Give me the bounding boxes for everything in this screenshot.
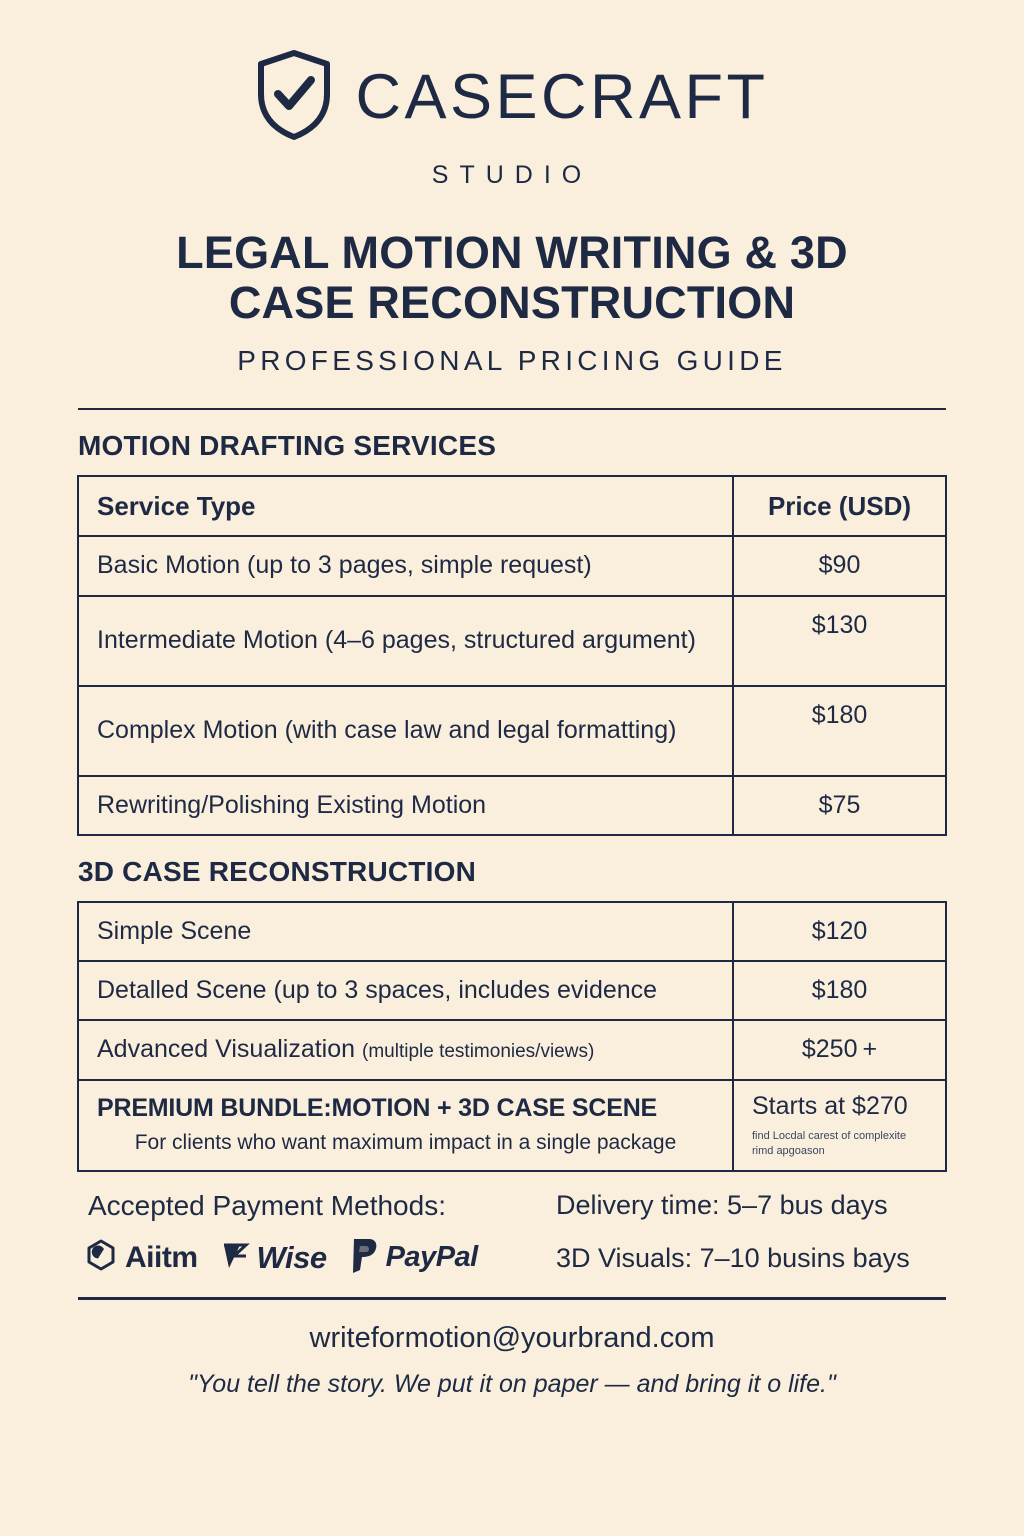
paypal-p-icon	[349, 1236, 379, 1279]
brand-subname: STUDIO	[0, 161, 1024, 190]
payment-method-wise[interactable]: Wise	[220, 1239, 327, 1276]
service-name-note: (multiple testimonies/views)	[362, 1041, 594, 1062]
table-row: Advanced Visualization (multiple testimo…	[78, 1020, 946, 1079]
delivery-3d-visuals: 3D Visuals: 7–10 busins bays	[556, 1245, 946, 1272]
premium-bundle-subtitle: For clients who want maximum impact in a…	[97, 1130, 714, 1156]
service-price: $180	[733, 686, 946, 776]
brand-logo: CASECRAFT	[0, 0, 1024, 147]
table-row: Basic Motion (up to 3 pages, simple requ…	[78, 536, 946, 595]
premium-bundle-price-note-line1: find Locdal carest of complexite	[752, 1129, 927, 1144]
service-name: Advanced Visualization (multiple testimo…	[78, 1020, 733, 1079]
service-name: Complex Motion (with case law and legal …	[78, 686, 733, 776]
premium-bundle-title: PREMIUM BUNDLE:MOTION + 3D CASE SCENE	[97, 1093, 714, 1124]
service-name: Rewriting/Polishing Existing Motion	[78, 776, 733, 835]
service-price: $130	[733, 596, 946, 686]
divider-top	[78, 408, 946, 410]
reconstruction-table: Simple Scene $120 Detalled Scene (up to …	[77, 901, 947, 1173]
payment-methods-label: Accepted Payment Methods:	[88, 1190, 556, 1222]
tagline: "You tell the story. We put it on paper …	[0, 1370, 1024, 1399]
payment-method-paypal[interactable]: PayPal	[349, 1236, 478, 1279]
service-price: $75	[733, 776, 946, 835]
table-row: Detalled Scene (up to 3 spaces, includes…	[78, 961, 946, 1020]
premium-bundle-title-bold: PREMIUM BUNDLE:	[97, 1094, 332, 1122]
page-title-line1: LEGAL MOTION WRITING & 3D	[176, 227, 848, 278]
premium-bundle-row: PREMIUM BUNDLE:MOTION + 3D CASE SCENE Fo…	[78, 1080, 946, 1172]
divider-bottom	[78, 1297, 946, 1300]
service-price: $120	[733, 902, 946, 961]
delivery-time: Delivery time: 5–7 bus days	[556, 1192, 946, 1219]
table-row: Rewriting/Polishing Existing Motion $75	[78, 776, 946, 835]
payment-method-name: Aiitm	[125, 1241, 198, 1275]
payment-method-name: Wise	[257, 1240, 327, 1276]
pricing-flyer: CASECRAFT STUDIO LEGAL MOTION WRITING & …	[0, 0, 1024, 1536]
service-price: $250 +	[733, 1020, 946, 1079]
section-title-3d-reconstruction: 3D CASE RECONSTRUCTION	[78, 856, 1024, 888]
delivery-info: Delivery time: 5–7 bus days 3D Visuals: …	[556, 1190, 946, 1272]
page-subtitle: PROFESSIONAL PRICING GUIDE	[0, 345, 1024, 377]
premium-bundle-cell: PREMIUM BUNDLE:MOTION + 3D CASE SCENE Fo…	[78, 1080, 733, 1172]
service-name: Detalled Scene (up to 3 spaces, includes…	[78, 961, 733, 1020]
premium-bundle-price-cell: Starts at $270 find Locdal carest of com…	[733, 1080, 946, 1172]
column-header-service: Service Type	[78, 476, 733, 537]
table-row: Complex Motion (with case law and legal …	[78, 686, 946, 776]
payment-method-name: PayPal	[386, 1241, 478, 1274]
table-header-row: Service Type Price (USD)	[78, 476, 946, 537]
payments-delivery-block: Accepted Payment Methods: Aiitm	[78, 1190, 946, 1279]
service-name: Basic Motion (up to 3 pages, simple requ…	[78, 536, 733, 595]
premium-bundle-price-note-line2: rimd apgoason	[752, 1144, 927, 1159]
payment-method-airtm[interactable]: Aiitm	[84, 1238, 198, 1277]
airtm-hexagon-icon	[84, 1238, 118, 1277]
premium-bundle-price: Starts at $270	[752, 1091, 927, 1122]
payment-methods: Accepted Payment Methods: Aiitm	[78, 1190, 556, 1279]
footer: writeformotion@yourbrand.com "You tell t…	[0, 1322, 1024, 1399]
column-header-price: Price (USD)	[733, 476, 946, 537]
payment-logos: Aiitm Wise	[84, 1236, 556, 1279]
premium-bundle-title-rest: MOTION + 3D CASE SCENE	[332, 1094, 658, 1122]
service-name: Intermediate Motion (4–6 pages, structur…	[78, 596, 733, 686]
table-row: Simple Scene $120	[78, 902, 946, 961]
motion-drafting-table: Service Type Price (USD) Basic Motion (u…	[77, 475, 947, 836]
brand-name: CASECRAFT	[355, 66, 768, 129]
service-name-main: Advanced Visualization	[97, 1035, 355, 1063]
page-title-line2: CASE RECONSTRUCTION	[0, 278, 1024, 328]
contact-email[interactable]: writeformotion@yourbrand.com	[0, 1322, 1024, 1355]
service-name: Simple Scene	[78, 902, 733, 961]
page-title: LEGAL MOTION WRITING & 3D CASE RECONSTRU…	[0, 228, 1024, 329]
table-row: Intermediate Motion (4–6 pages, structur…	[78, 596, 946, 686]
service-price: $180	[733, 961, 946, 1020]
section-title-motion-drafting: MOTION DRAFTING SERVICES	[78, 430, 1024, 462]
wise-flag-icon	[220, 1239, 250, 1276]
shield-check-icon	[255, 48, 333, 147]
service-price: $90	[733, 536, 946, 595]
